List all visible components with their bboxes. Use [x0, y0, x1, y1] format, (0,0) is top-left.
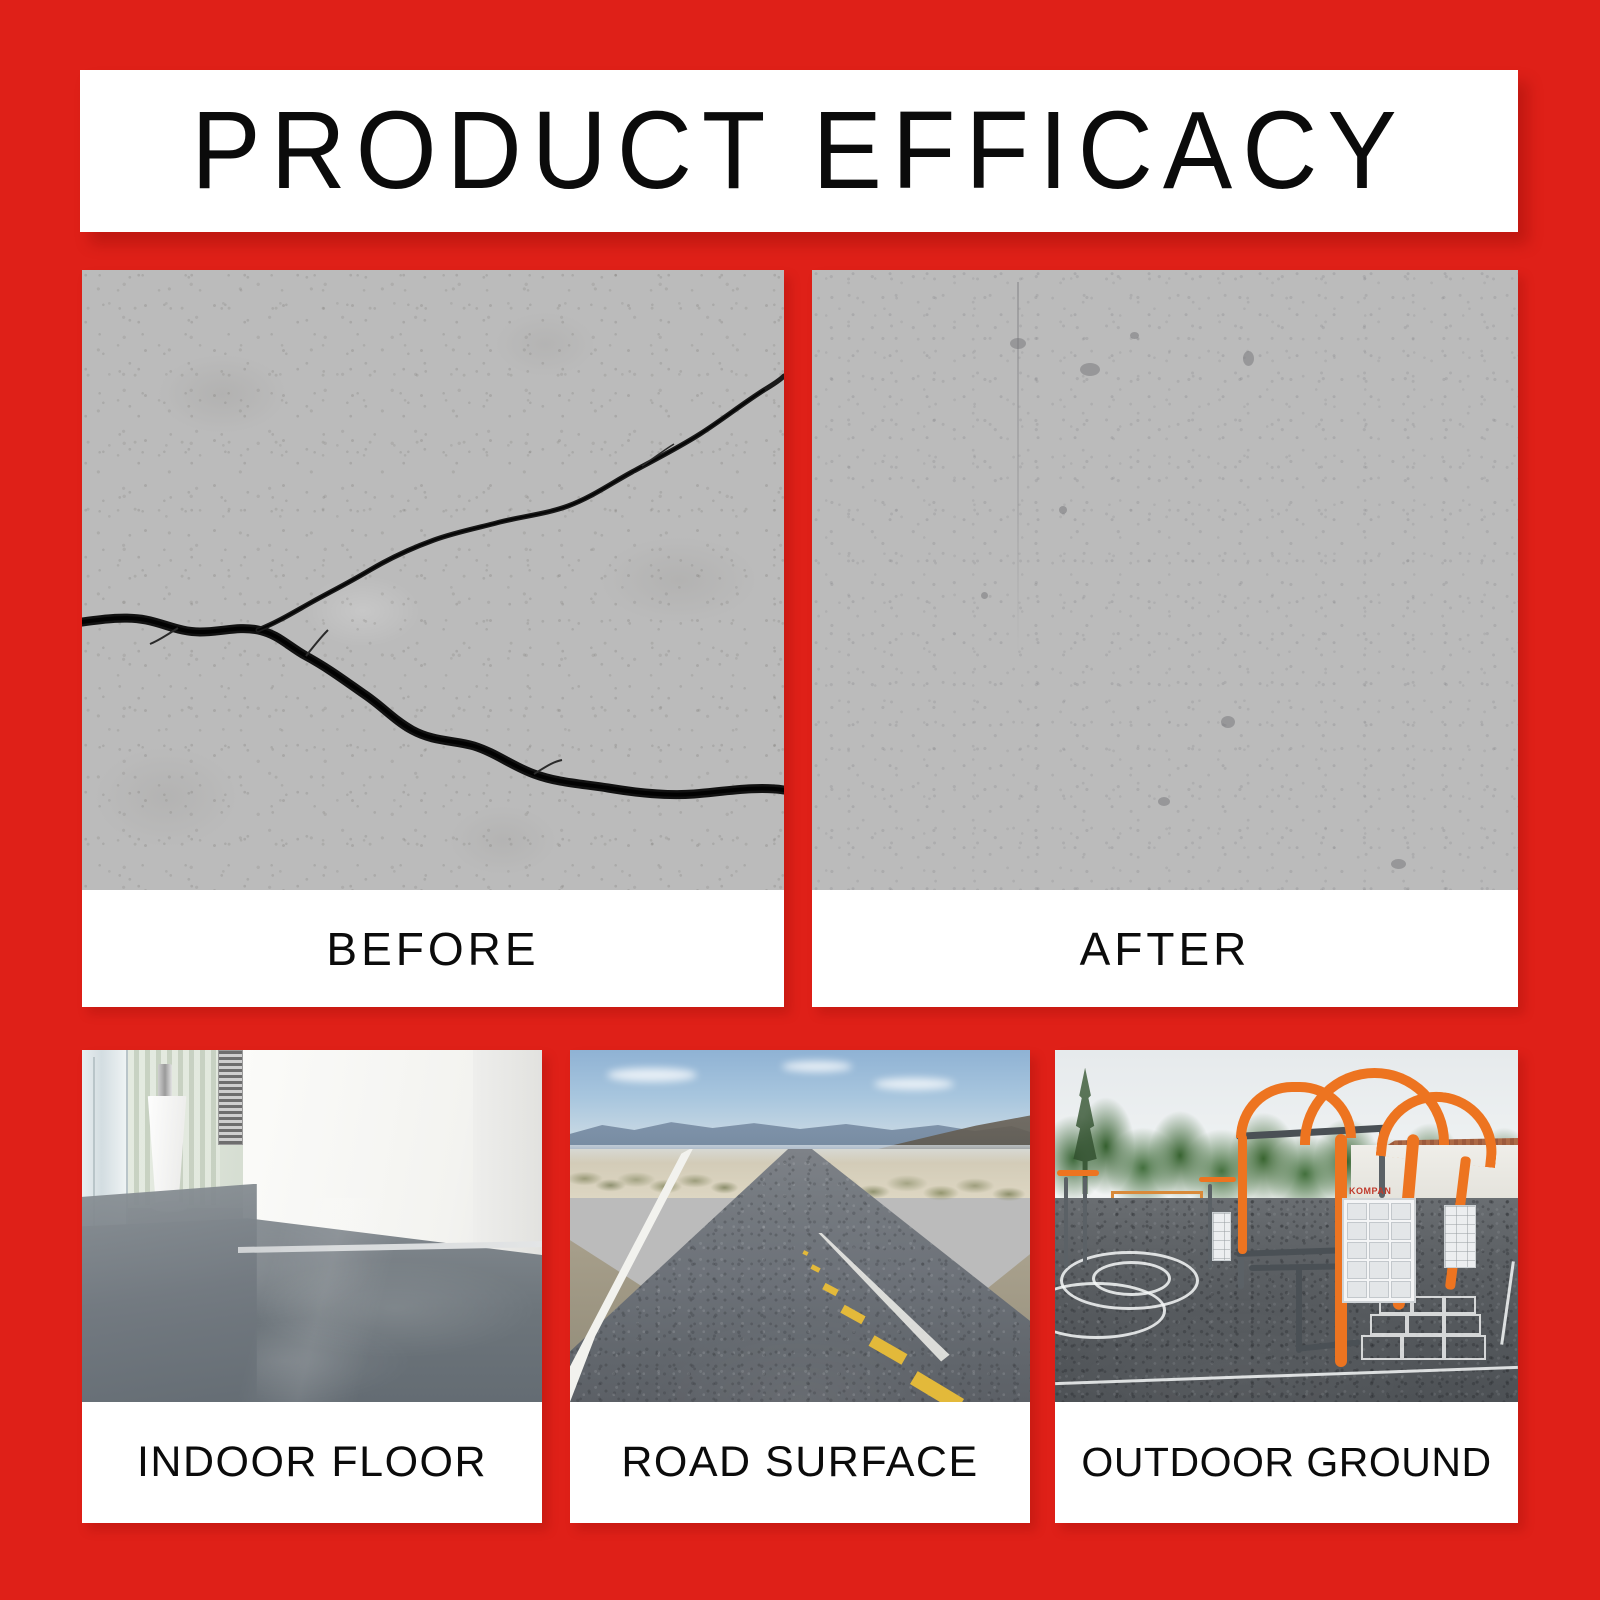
road-surface-caption: ROAD SURFACE	[570, 1402, 1030, 1523]
concrete-speck	[1059, 506, 1067, 514]
concrete-speck	[1243, 351, 1254, 366]
concrete-speck	[1010, 338, 1026, 349]
page-title: PRODUCT EFFICACY	[191, 96, 1407, 206]
road-surface-panel: ROAD SURFACE	[570, 1050, 1030, 1523]
outdoor-ground-caption: OUTDOOR GROUND	[1055, 1402, 1518, 1523]
before-caption: BEFORE	[82, 890, 784, 1007]
repaired-concrete-photo	[812, 270, 1518, 890]
indoor-floor-photo	[82, 1050, 542, 1402]
indoor-floor-panel: INDOOR FLOOR	[82, 1050, 542, 1523]
indoor-floor-left-section	[82, 1184, 257, 1402]
concrete-speck	[1080, 363, 1100, 376]
road-surface-photo	[570, 1050, 1030, 1402]
after-panel: AFTER	[812, 270, 1518, 1007]
page-title-bar: PRODUCT EFFICACY	[80, 70, 1518, 232]
concrete-speck	[1391, 859, 1406, 869]
concrete-speck	[1221, 716, 1235, 728]
indoor-floor-caption: INDOOR FLOOR	[82, 1402, 542, 1523]
crack-overlay	[82, 270, 784, 890]
cracked-concrete-photo	[82, 270, 784, 890]
after-caption: AFTER	[812, 890, 1518, 1007]
outdoor-ground-panel: KOMPAN OUTDOOR GROUND	[1055, 1050, 1518, 1523]
indoor-radiator	[218, 1050, 243, 1145]
concrete-speck	[1158, 797, 1170, 806]
indoor-side-wall	[473, 1050, 542, 1268]
concrete-speck	[1130, 332, 1139, 339]
outdoor-asphalt	[1055, 1198, 1518, 1402]
concrete-seam-line	[1017, 282, 1019, 654]
concrete-grain-fine	[812, 270, 1518, 890]
before-panel: BEFORE	[82, 270, 784, 1007]
outdoor-ground-photo: KOMPAN	[1055, 1050, 1518, 1402]
concrete-speck	[981, 592, 988, 599]
